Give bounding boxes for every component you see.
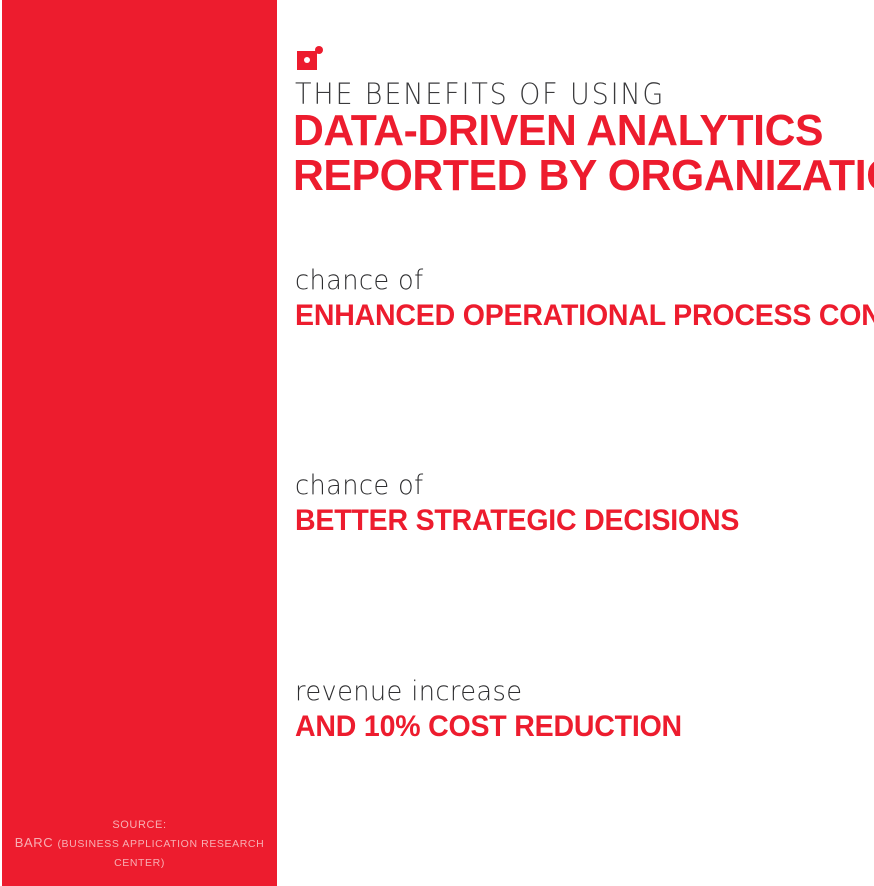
page-title: DATA-DRIVEN ANALYTICS REPORTED BY ORGANI… xyxy=(293,108,874,198)
source-organization-short: BARC xyxy=(15,835,54,850)
stat-description-2-lead: chance of xyxy=(295,470,739,502)
stat-description-3: revenue increase AND 10% COST REDUCTION xyxy=(295,676,702,743)
source-attribution: SOURCE: BARC (BUSINESS APPLICATION RESEA… xyxy=(2,818,277,872)
stat-description-2-headline: BETTER STRATEGIC DECISIONS xyxy=(295,505,739,537)
logo-outer-dot-icon xyxy=(315,46,323,54)
stat-description-3-headline: AND 10% COST REDUCTION xyxy=(295,711,682,743)
logo-inner-dot-icon xyxy=(304,57,310,63)
stat-description-1-headline: ENHANCED OPERATIONAL PROCESS CONTROL xyxy=(295,300,874,332)
source-organization: BARC (BUSINESS APPLICATION RESEARCH CENT… xyxy=(2,834,277,872)
source-label: SOURCE: xyxy=(2,818,277,834)
source-organization-full: (BUSINESS APPLICATION RESEARCH CENTER) xyxy=(57,838,264,869)
headline-line-1: DATA-DRIVEN ANALYTICS xyxy=(293,108,874,153)
headline-line-2: REPORTED BY ORGANIZATIONS xyxy=(293,153,874,198)
brand-logo-icon xyxy=(297,46,323,70)
stat-description-1: chance of ENHANCED OPERATIONAL PROCESS C… xyxy=(295,265,874,332)
stat-description-1-lead: chance of xyxy=(295,265,874,297)
stat-figure-3-percent-sign: % xyxy=(745,692,824,795)
stat-description-3-lead: revenue increase xyxy=(295,676,682,708)
stat-description-2: chance of BETTER STRATEGIC DECISIONS xyxy=(295,470,763,537)
left-red-panel xyxy=(2,0,277,886)
infographic-canvas: THE BENEFITS OF USING DATA-DRIVEN ANALYT… xyxy=(0,0,874,886)
